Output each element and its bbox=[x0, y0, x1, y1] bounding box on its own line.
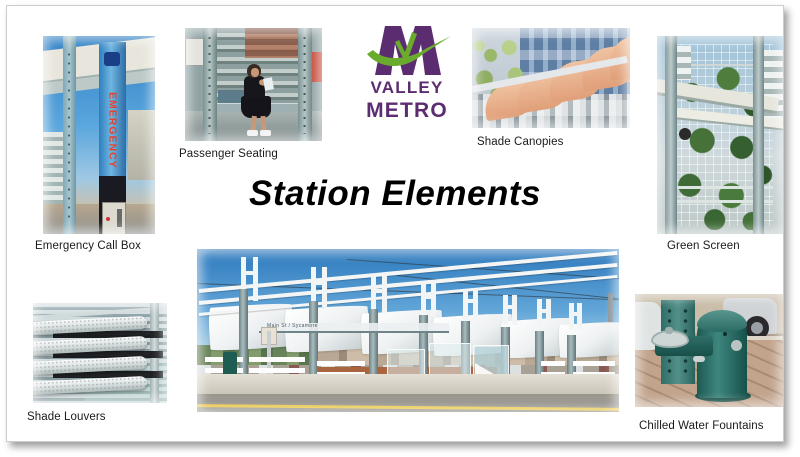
photo-shade-louvers bbox=[33, 303, 167, 403]
logo-line-metro: METRO bbox=[343, 99, 471, 123]
valley-metro-logo: VALLEY METRO bbox=[343, 20, 471, 124]
caption-chilled-water-fountains: Chilled Water Fountains bbox=[639, 420, 764, 432]
photo-shade-canopies bbox=[472, 28, 630, 128]
photo-passenger-seating bbox=[185, 28, 322, 141]
caption-shade-canopies: Shade Canopies bbox=[477, 136, 563, 148]
photo-emergency-call-box: EMERGENCY bbox=[43, 36, 155, 234]
photo-green-screen bbox=[657, 36, 784, 234]
presentation-slide: VALLEY METRO Station Elements EMERGENCY … bbox=[6, 5, 784, 442]
photo-chilled-water-fountains bbox=[635, 294, 783, 407]
valley-metro-m-mark bbox=[365, 20, 451, 78]
caption-passenger-seating: Passenger Seating bbox=[179, 148, 278, 160]
emergency-pole-label: EMERGENCY bbox=[99, 84, 126, 176]
caption-green-screen: Green Screen bbox=[667, 240, 740, 252]
logo-line-valley: VALLEY bbox=[343, 78, 471, 98]
caption-shade-louvers: Shade Louvers bbox=[27, 411, 106, 423]
photo-station-platform: Main St / Sycamore bbox=[197, 249, 619, 412]
caption-emergency-call-box: Emergency Call Box bbox=[35, 240, 141, 252]
